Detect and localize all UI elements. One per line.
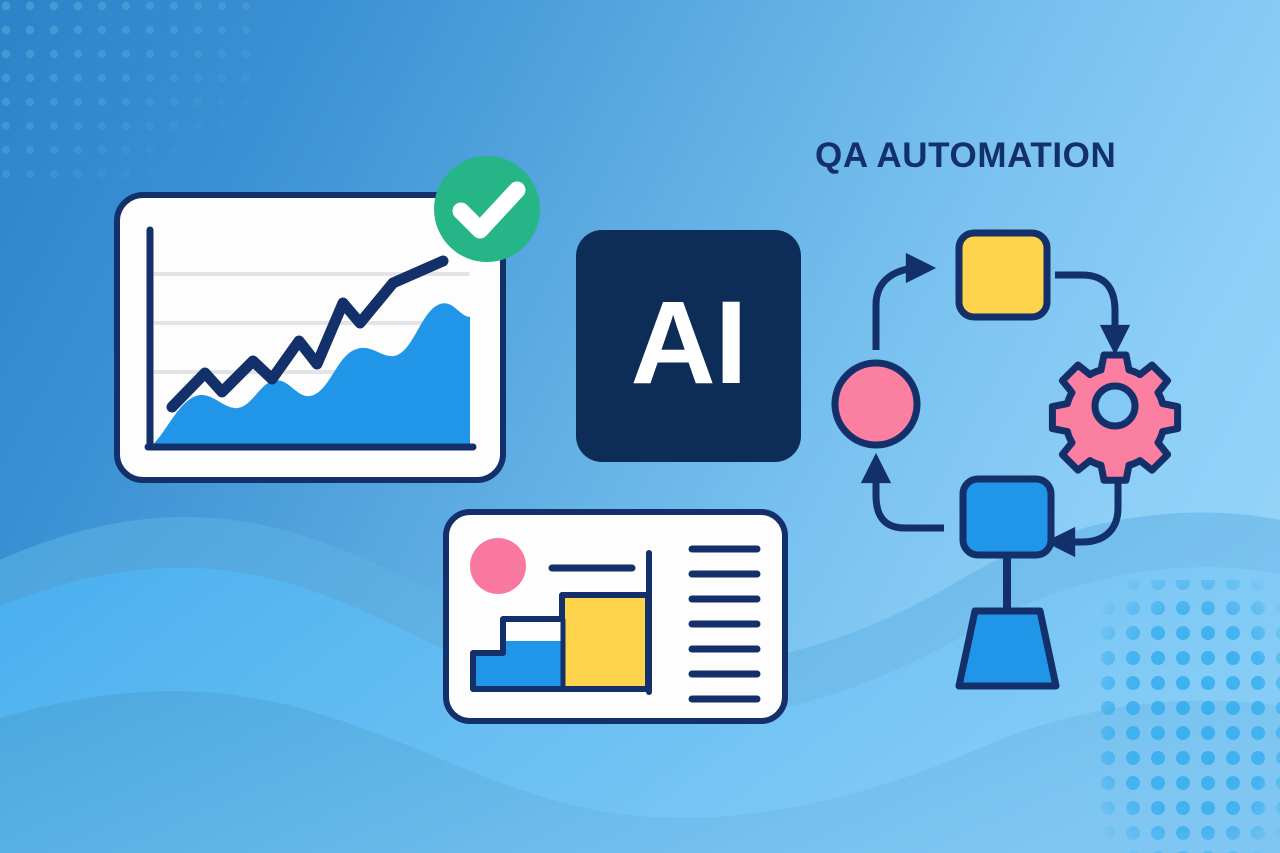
qa-automation-cycle bbox=[0, 0, 1280, 853]
poster-canvas: QA AUTOMATION AI bbox=[0, 0, 1280, 853]
flow-node-deploy-square bbox=[963, 479, 1051, 555]
flow-node-process-gear bbox=[1052, 355, 1177, 480]
gear-hole bbox=[1095, 386, 1135, 426]
flow-node-output-trapezoid bbox=[959, 611, 1056, 686]
edge-deploy-to-start bbox=[876, 468, 944, 528]
flow-node-start-circle bbox=[835, 363, 917, 445]
edge-plan-to-process bbox=[1055, 275, 1115, 340]
edge-start-to-plan bbox=[876, 268, 921, 350]
flow-node-plan-square bbox=[959, 233, 1047, 317]
